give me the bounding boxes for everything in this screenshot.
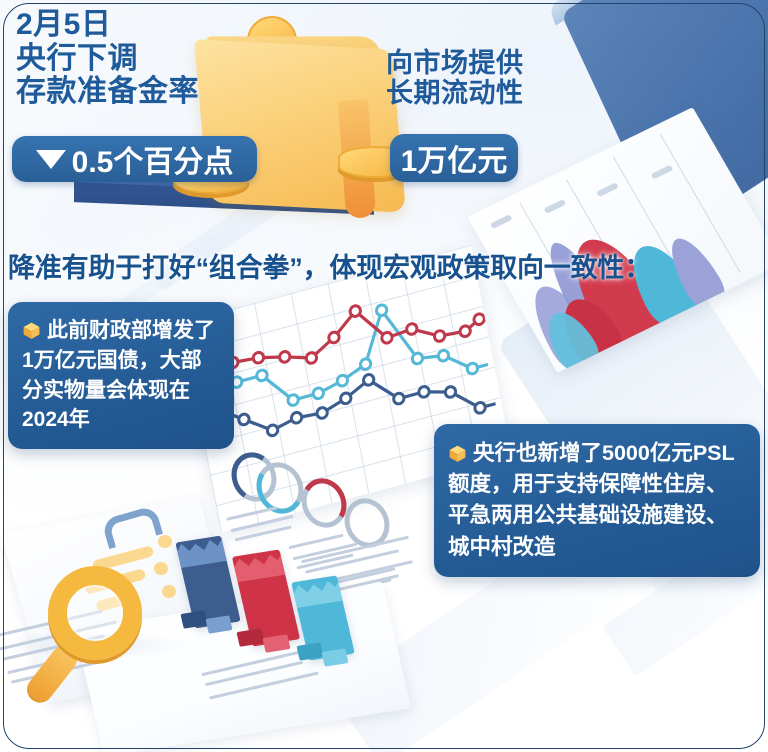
- bullet-dot: [162, 585, 176, 598]
- headline-right-line-1: 向市场提供: [386, 48, 606, 78]
- callout-text: 央行也新增了5000亿元PSL额度，用于支持保障性住房、平急两用公共基础设施建设…: [448, 438, 746, 563]
- bullet-dot: [154, 562, 168, 575]
- liquidity-badge: 1万亿元: [390, 134, 518, 182]
- rate-cut-value: 0.5个百分点: [72, 137, 234, 181]
- infographic-canvas: 2月5日 央行下调 存款准备金率 向市场提供 长期流动性 0.5个百分点 1万亿…: [0, 0, 768, 752]
- headline-left: 2月5日 央行下调 存款准备金率: [16, 8, 296, 109]
- callout-text-value: 央行也新增了5000亿元PSL额度，用于支持保障性住房、平急两用公共基础设施建设…: [448, 441, 735, 559]
- callout-text-value: 此前财政部增发了1万亿元国债，大部分实物量会体现在2024年: [22, 319, 215, 431]
- headline-date: 2月5日: [16, 8, 296, 42]
- bullet-dot: [158, 535, 172, 548]
- callout-card-fiscal-bonds: 此前财政部增发了1万亿元国债，大部分实物量会体现在2024年: [8, 302, 234, 449]
- headline-right-line-2: 长期流动性: [386, 78, 606, 108]
- headline-right: 向市场提供 长期流动性: [386, 48, 606, 108]
- sheet-tick: [490, 214, 513, 229]
- headline-line-3: 存款准备金率: [16, 75, 296, 109]
- cube-icon: [448, 444, 467, 463]
- callout-card-psl-quota: 央行也新增了5000亿元PSL额度，用于支持保障性住房、平急两用公共基础设施建设…: [434, 424, 760, 577]
- triangle-down-icon: [36, 150, 66, 169]
- sheet-tick: [596, 182, 619, 197]
- headline-line-2: 央行下调: [16, 42, 296, 76]
- section-headline: 降准有助于打好“组合拳”，体现宏观政策取向一致性：: [8, 246, 651, 285]
- callout-text: 此前财政部增发了1万亿元国债，大部分实物量会体现在2024年: [22, 316, 220, 435]
- liquidity-value: 1万亿元: [401, 136, 508, 180]
- magnifier-lens: [48, 566, 142, 660]
- bar-wave-top: [175, 536, 226, 569]
- cube-icon: [22, 321, 41, 340]
- sheet-tick: [543, 199, 566, 214]
- rate-cut-badge: 0.5个百分点: [12, 136, 257, 182]
- magnifying-glass-icon: [34, 566, 154, 706]
- sheet-tick: [651, 165, 674, 180]
- bar-wave-top: [291, 575, 342, 608]
